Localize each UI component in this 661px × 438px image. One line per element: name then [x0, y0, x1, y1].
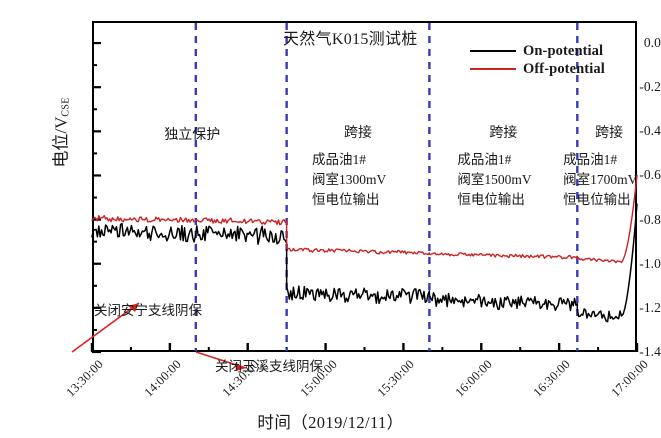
y-tick-label: 0.0 — [615, 35, 661, 51]
zone-detail-jumper-2: 成品油1#阀室1500mV恒电位输出 — [457, 150, 531, 210]
chart-title: 天然气K015测试桩 — [283, 25, 418, 49]
zone-head-jumper-1: 跨接 — [298, 122, 418, 142]
zone-detail-jumper-3: 成品油1#阀室1700mV恒电位输出 — [563, 150, 637, 210]
y-tick-label: -0.2 — [615, 79, 661, 95]
x-tick-label: 13:30:00 — [49, 357, 106, 414]
zone-detail-line-1: 成品油1# — [457, 150, 531, 170]
zone-detail-line-1: 成品油1# — [312, 150, 386, 170]
legend-label-2: Off-potential — [523, 61, 605, 78]
y-tick-label: -0.8 — [615, 212, 661, 228]
legend: On-potentialOff-potential — [470, 42, 605, 78]
zone-detail-line-1: 成品油1# — [563, 150, 637, 170]
x-tick-label: 16:00:00 — [439, 357, 496, 414]
x-axis-title: 时间（2019/12/11） — [0, 409, 661, 433]
y-tick-label: -1.0 — [615, 256, 661, 272]
y-axis-title: 电位/VCSE — [47, 68, 72, 198]
zone-head-independent-protection: 独立保护 — [132, 124, 252, 144]
legend-item-2[interactable]: Off-potential — [470, 60, 605, 78]
zone-detail-line-2: 阀室1700mV — [563, 170, 637, 190]
legend-label-1: On-potential — [523, 43, 603, 60]
x-tick-label: 17:00:00 — [594, 357, 651, 414]
zone-detail-jumper-1: 成品油1#阀室1300mV恒电位输出 — [312, 150, 386, 210]
y-tick-label: -1.2 — [615, 300, 661, 316]
legend-swatch-1 — [470, 50, 516, 52]
y-axis-title-text: 电位/V — [52, 117, 71, 168]
zone-detail-line-3: 恒电位输出 — [563, 190, 637, 210]
zone-head-jumper-3: 跨接 — [549, 122, 661, 142]
zone-head-jumper-2: 跨接 — [443, 122, 563, 142]
x-tick-label: 15:30:00 — [361, 357, 418, 414]
x-tick-label: 16:30:00 — [516, 357, 573, 414]
zone-detail-line-2: 阀室1500mV — [457, 170, 531, 190]
zone-detail-line-3: 恒电位输出 — [312, 190, 386, 210]
y-axis-title-subscript: CSE — [61, 97, 72, 116]
legend-item-1[interactable]: On-potential — [470, 42, 605, 60]
y-tick-label: -1.4 — [615, 344, 661, 360]
zone-detail-line-2: 阀室1300mV — [312, 170, 386, 190]
chart-canvas: 0.0-0.2-0.4-0.6-0.8-1.0-1.2-1.4 电位/VCSE … — [0, 0, 661, 438]
zone-detail-line-3: 恒电位输出 — [457, 190, 531, 210]
legend-swatch-2 — [470, 68, 516, 70]
x-tick-label: 14:00:00 — [127, 357, 184, 414]
callout-yuxi-branch: 关闭玉溪支线阴保 — [215, 355, 323, 375]
callout-anning-branch: 关闭安宁支线阴保 — [94, 299, 202, 319]
